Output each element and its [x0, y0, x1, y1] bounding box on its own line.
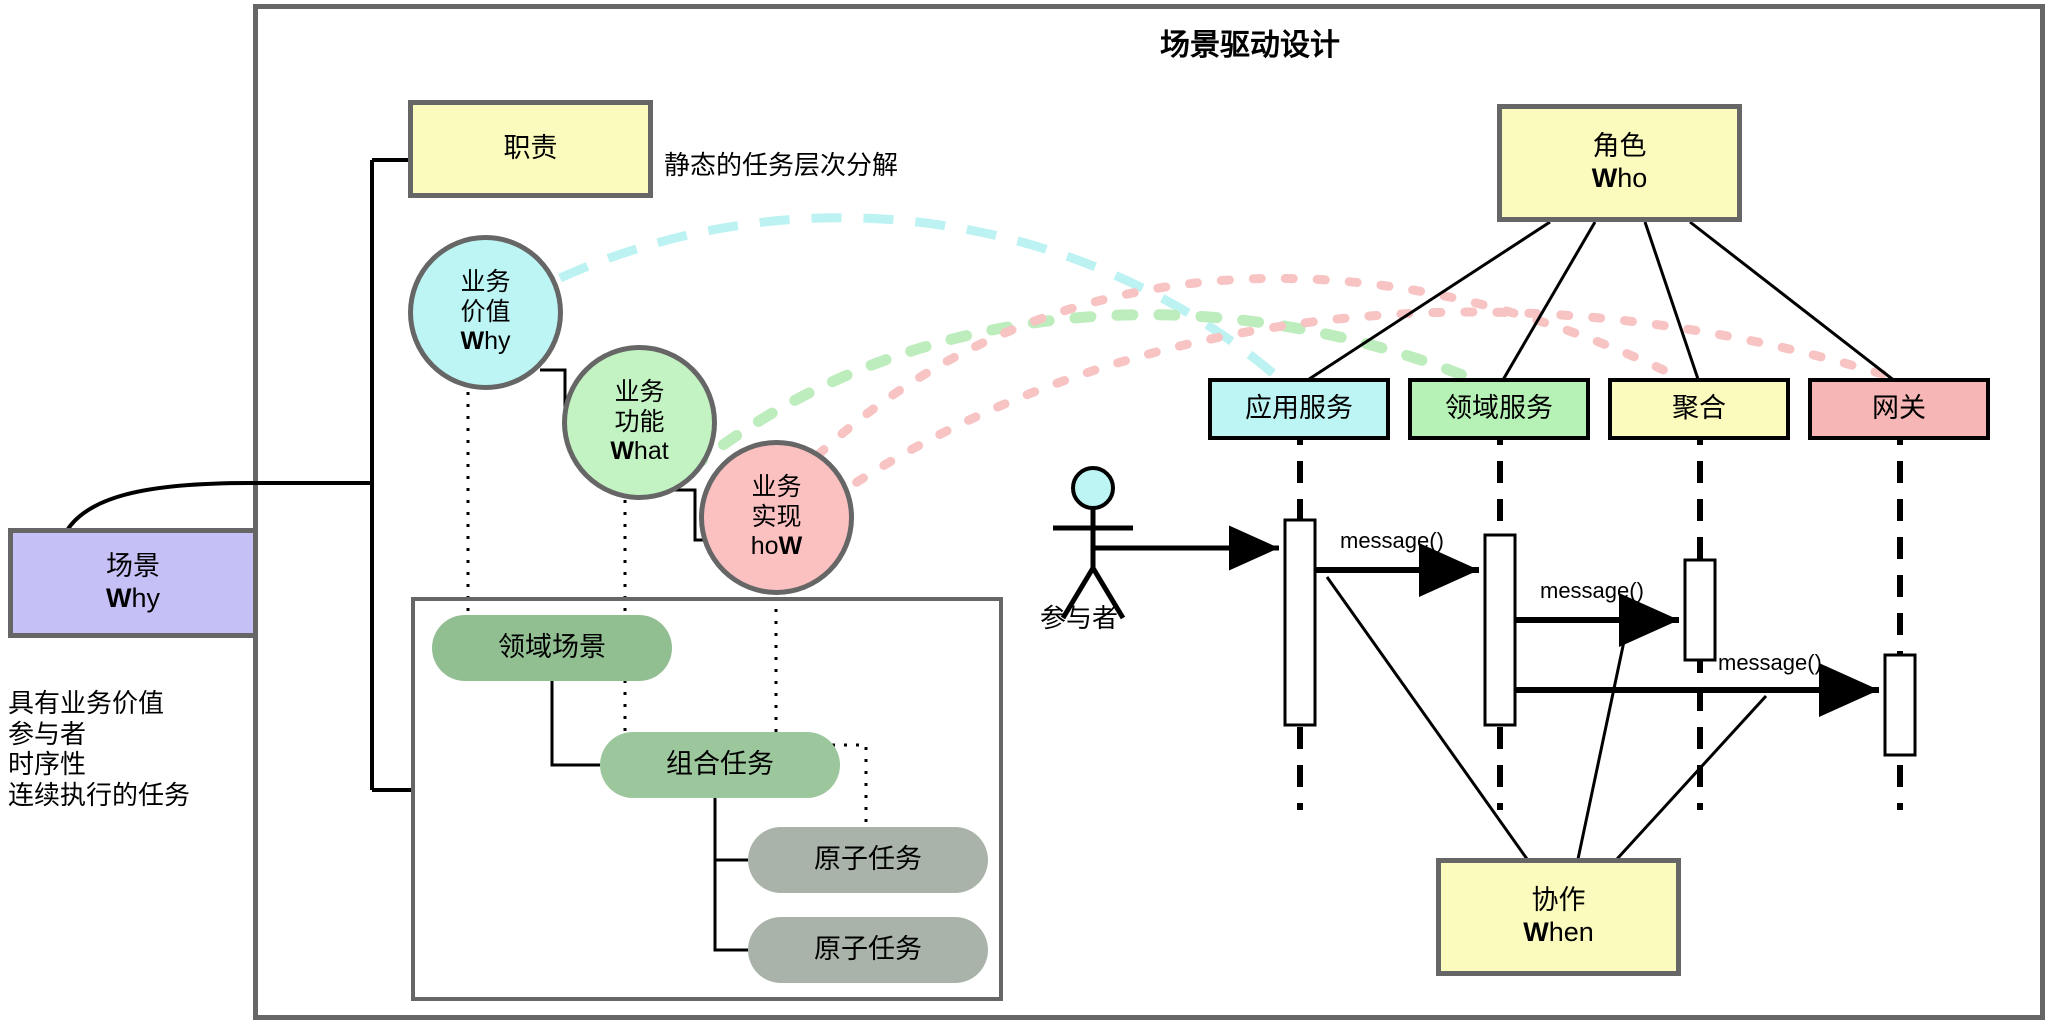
service-box-application-service[interactable]: 应用服务 [1208, 378, 1390, 440]
static-decomposition-note: 静态的任务层次分解 [664, 145, 898, 182]
business-implementation-circle[interactable]: 业务 实现 hoW [699, 440, 854, 595]
task-label-1: 组合任务 [666, 749, 774, 781]
message-label-1: message() [1540, 578, 1644, 604]
service-label-2: 聚合 [1672, 393, 1726, 425]
bf-line2: 功能 [614, 408, 664, 438]
bf-line1: 业务 [614, 378, 664, 408]
message-label-0: message() [1340, 528, 1444, 554]
service-label-3: 网关 [1872, 393, 1926, 425]
task-node-atomic-task-2[interactable]: 原子任务 [748, 917, 988, 983]
actor-label: 参与者 [1040, 598, 1118, 635]
service-box-aggregate[interactable]: 聚合 [1608, 378, 1790, 440]
bi-line2: 实现 [751, 503, 801, 533]
collab-label-cn: 协作 [1532, 885, 1586, 917]
service-box-gateway[interactable]: 网关 [1808, 378, 1990, 440]
task-label-0: 领域场景 [498, 632, 606, 664]
bullet-0: 具有业务价值 [8, 688, 190, 719]
scenario-bullets: 具有业务价值 参与者 时序性 连续执行的任务 [8, 688, 190, 811]
service-box-domain-service[interactable]: 领域服务 [1408, 378, 1590, 440]
task-node-domain-scenario[interactable]: 领域场景 [432, 615, 672, 681]
bf-line3: What [610, 437, 668, 467]
scenario-label-cn: 场景 [106, 551, 160, 583]
scenario-label-en: Why [106, 583, 160, 615]
task-label-2: 原子任务 [814, 844, 922, 876]
task-label-3: 原子任务 [814, 934, 922, 966]
bv-line3: Why [460, 327, 510, 357]
bv-line2: 价值 [460, 298, 510, 328]
role-label-cn: 角色 [1593, 131, 1647, 163]
scenario-box[interactable]: 场景 Why [8, 528, 258, 638]
business-value-circle[interactable]: 业务 价值 Why [408, 235, 563, 390]
role-who-box[interactable]: 角色 Who [1497, 104, 1742, 222]
bullet-2: 时序性 [8, 749, 190, 780]
collaboration-when-box[interactable]: 协作 When [1436, 858, 1681, 976]
service-label-1: 领域服务 [1445, 393, 1553, 425]
collab-label-en: When [1523, 917, 1594, 949]
bullet-1: 参与者 [8, 719, 190, 750]
diagram-canvas: 场景驱动设计 [0, 0, 2050, 1032]
responsibility-box[interactable]: 职责 [408, 100, 653, 198]
bi-line3: hoW [751, 532, 802, 562]
business-function-circle[interactable]: 业务 功能 What [562, 345, 717, 500]
bullet-3: 连续执行的任务 [8, 780, 190, 811]
service-label-0: 应用服务 [1245, 393, 1353, 425]
message-label-2: message() [1718, 650, 1822, 676]
bi-line1: 业务 [751, 473, 801, 503]
task-node-composite-task[interactable]: 组合任务 [600, 732, 840, 798]
role-label-en: Who [1592, 163, 1648, 195]
connector-layer [0, 0, 2050, 1032]
responsibility-label: 职责 [504, 133, 558, 165]
task-node-atomic-task-1[interactable]: 原子任务 [748, 827, 988, 893]
bv-line1: 业务 [460, 268, 510, 298]
